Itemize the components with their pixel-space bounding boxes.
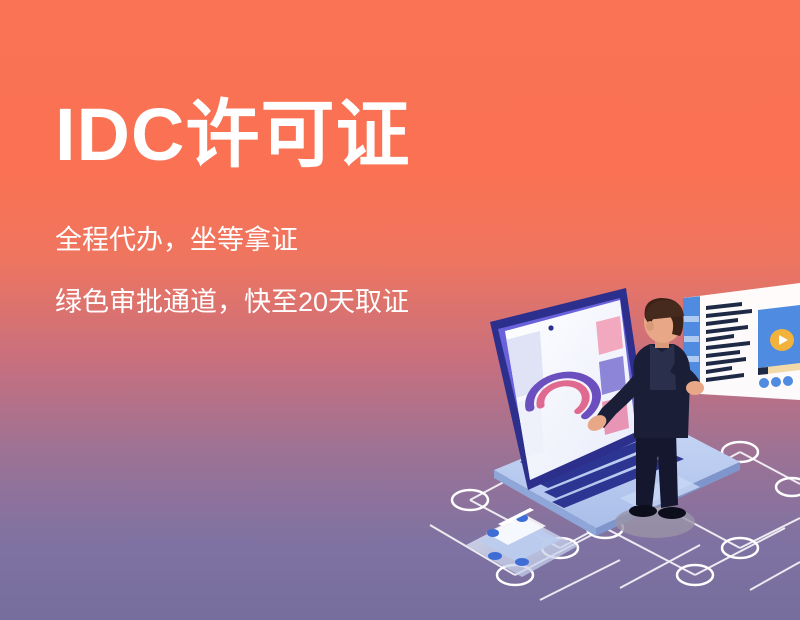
subtitle-line-1: 全程代办，坐等拿证 [55, 224, 410, 256]
text-block: IDC许可证 全程代办，坐等拿证 绿色审批通道，快至20天取证 [55, 96, 410, 318]
subtitle-line-2: 绿色审批通道，快至20天取证 [55, 286, 410, 318]
promo-banner: IDC许可证 全程代办，坐等拿证 绿色审批通道，快至20天取证 [0, 0, 800, 620]
page-title: IDC许可证 [55, 96, 410, 174]
screen-card-pink-1 [596, 316, 623, 355]
id-card [466, 508, 578, 577]
floating-panel [683, 283, 800, 400]
